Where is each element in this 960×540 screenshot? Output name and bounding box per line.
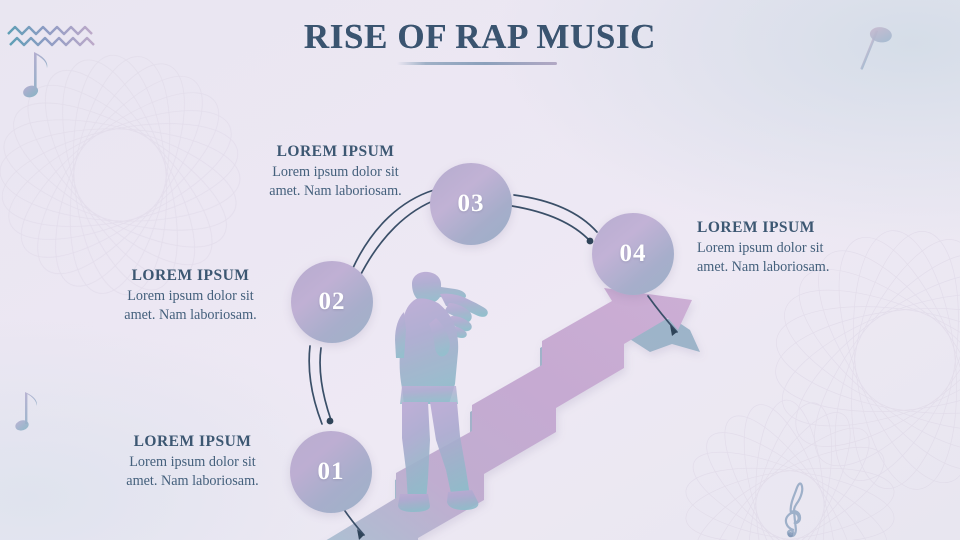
step-heading-02: LOREM IPSUM bbox=[88, 266, 293, 285]
step-heading-04: LOREM IPSUM bbox=[697, 218, 912, 237]
step-body-04-line1: Lorem ipsum dolor sit bbox=[697, 239, 912, 258]
step-body-04-line2: amet. Nam laboriosam. bbox=[697, 258, 912, 277]
step-number-03: 03 bbox=[458, 190, 485, 218]
step-circle-02[interactable]: 02 bbox=[291, 261, 373, 343]
step-circle-03[interactable]: 03 bbox=[430, 163, 512, 245]
step-text-03: LOREM IPSUM Lorem ipsum dolor sit amet. … bbox=[233, 142, 438, 201]
page-title: RISE OF RAP MUSIC bbox=[304, 18, 656, 57]
step-number-02: 02 bbox=[319, 288, 346, 316]
step-heading-01: LOREM IPSUM bbox=[90, 432, 295, 451]
step-circle-01[interactable]: 01 bbox=[290, 431, 372, 513]
step-text-04: LOREM IPSUM Lorem ipsum dolor sit amet. … bbox=[697, 218, 912, 277]
step-body-02-line2: amet. Nam laboriosam. bbox=[88, 306, 293, 325]
title-underline-divider bbox=[397, 62, 557, 65]
step-body-03-line2: amet. Nam laboriosam. bbox=[233, 182, 438, 201]
step-body-01-line2: amet. Nam laboriosam. bbox=[90, 472, 295, 491]
step-heading-03: LOREM IPSUM bbox=[233, 142, 438, 161]
step-body-02-line1: Lorem ipsum dolor sit bbox=[88, 287, 293, 306]
step-text-01: LOREM IPSUM Lorem ipsum dolor sit amet. … bbox=[90, 432, 295, 491]
step-number-04: 04 bbox=[620, 240, 647, 268]
connector-dot-01 bbox=[327, 418, 334, 425]
step-body-01-line1: Lorem ipsum dolor sit bbox=[90, 453, 295, 472]
step-circle-04[interactable]: 04 bbox=[592, 213, 674, 295]
page-title-wrapper: RISE OF RAP MUSIC bbox=[0, 18, 960, 57]
slide-canvas: RISE OF RAP MUSIC 01 02 03 04 LOREM IPSU… bbox=[0, 0, 960, 540]
step-number-01: 01 bbox=[318, 458, 345, 486]
step-text-02: LOREM IPSUM Lorem ipsum dolor sit amet. … bbox=[88, 266, 293, 325]
step-body-03-line1: Lorem ipsum dolor sit bbox=[233, 163, 438, 182]
